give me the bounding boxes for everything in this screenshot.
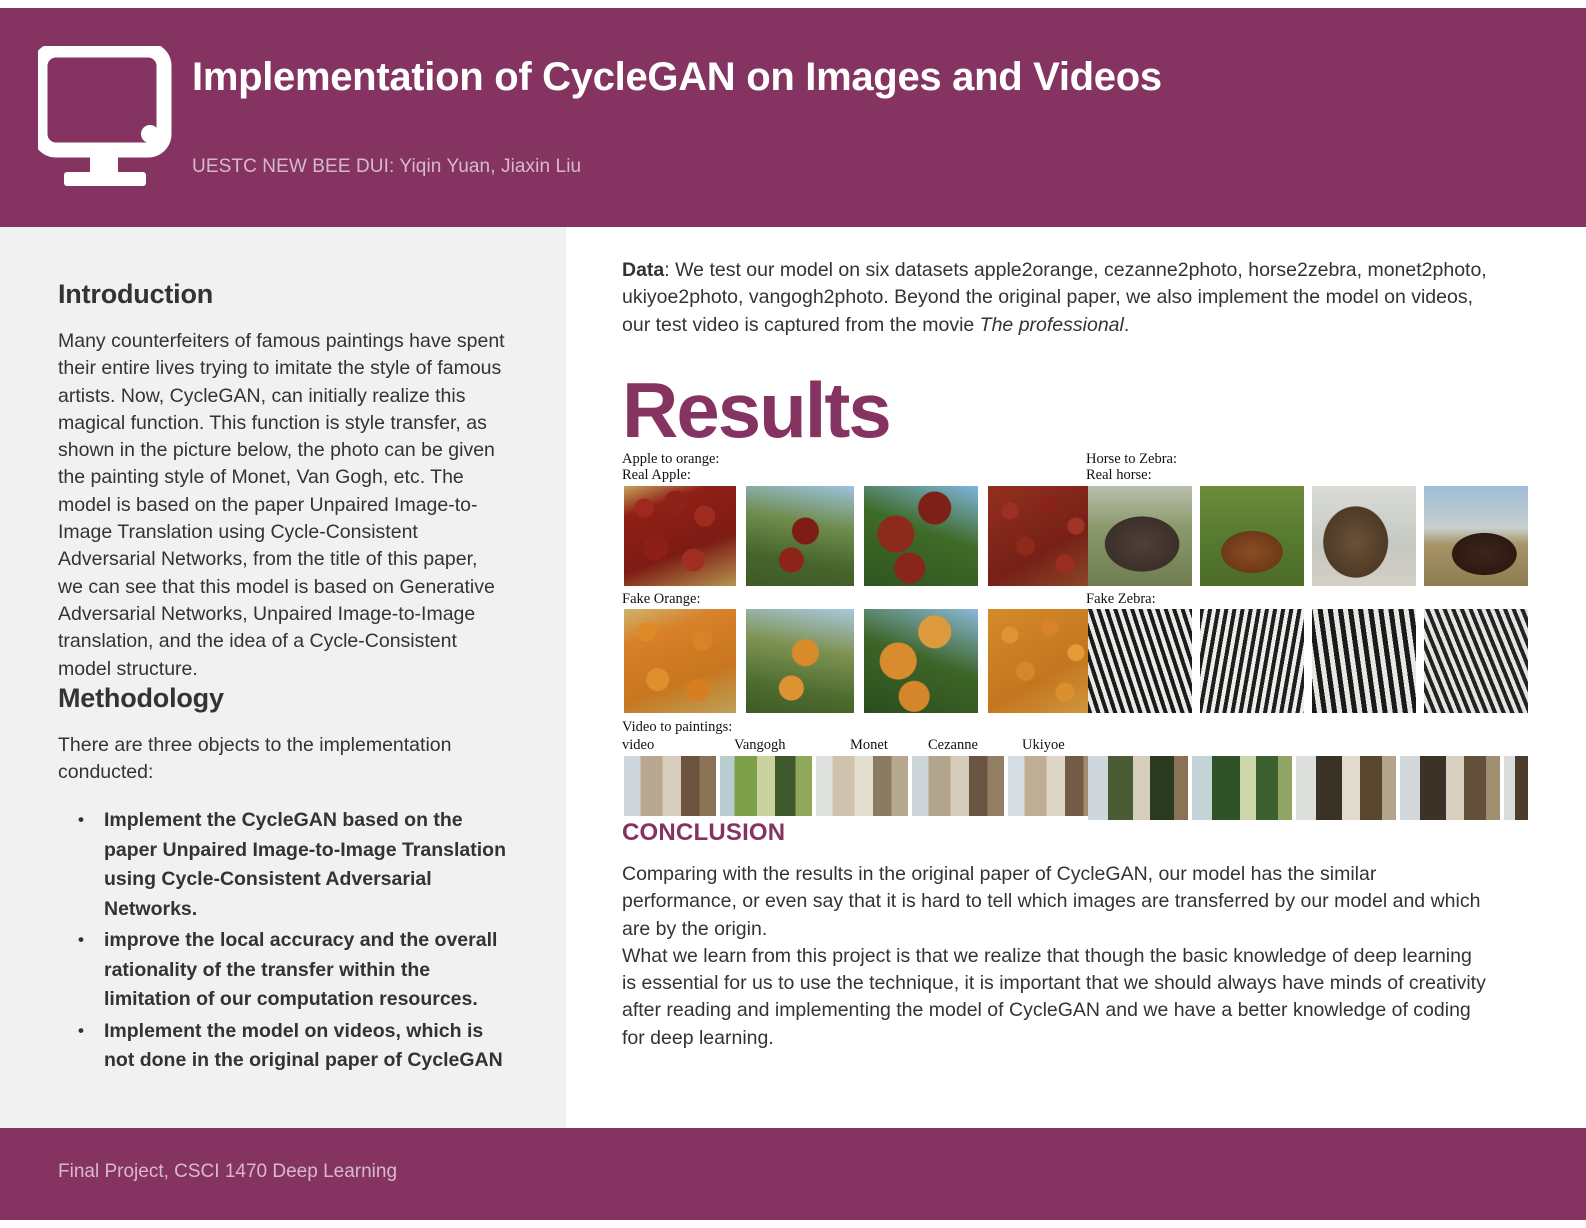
- thumb-fake-zebra-1: [1088, 609, 1192, 713]
- conclusion-paragraph-2: What we learn from this project is that …: [622, 943, 1491, 1052]
- thumb-video-strip-5: [1504, 756, 1528, 820]
- list-item: improve the local accuracy and the overa…: [104, 926, 506, 1015]
- poster-root: Implementation of CycleGAN on Images and…: [0, 0, 1586, 1228]
- thumb-fake-orange-3: [864, 609, 978, 713]
- introduction-text: Many counterfeiters of famous paintings …: [58, 328, 506, 683]
- thumb-video-strip-1: [1088, 756, 1188, 820]
- figure-label-real-horse: Real horse:: [1086, 467, 1152, 483]
- methodology-heading: Methodology: [58, 683, 506, 714]
- figure-label-monet: Monet: [850, 737, 888, 753]
- thumb-video-strip-3: [1296, 756, 1396, 820]
- thumb-fake-zebra-3: [1312, 609, 1416, 713]
- thumb-fake-orange-2: [746, 609, 854, 713]
- results-figure: Apple to orange: Real Apple: Fake Orange…: [622, 451, 1497, 803]
- thumb-real-horse-1: [1088, 486, 1192, 586]
- thumb-fake-orange-1: [624, 609, 736, 713]
- poster-footer: Final Project, CSCI 1470 Deep Learning: [0, 1128, 1586, 1220]
- list-item: Implement the model on videos, which is …: [104, 1017, 506, 1076]
- movie-title: The professional: [980, 314, 1124, 336]
- introduction-heading: Introduction: [58, 279, 506, 310]
- main-column: Data: We test our model on six datasets …: [566, 227, 1586, 1128]
- thumb-real-apple-4: [988, 486, 1098, 586]
- thumb-real-horse-3: [1312, 486, 1416, 586]
- thumb-fake-zebra-2: [1200, 609, 1304, 713]
- poster-body: Introduction Many counterfeiters of famo…: [0, 227, 1586, 1128]
- conclusion-heading: CONCLUSION: [622, 819, 1491, 847]
- figure-label-horse-to-zebra: Horse to Zebra:: [1086, 451, 1177, 467]
- figure-label-cezanne: Cezanne: [928, 737, 978, 753]
- page-title: Implementation of CycleGAN on Images and…: [192, 54, 1556, 100]
- thumb-real-apple-3: [864, 486, 978, 586]
- figure-label-fake-zebra: Fake Zebra:: [1086, 591, 1156, 607]
- thumb-fake-zebra-4: [1424, 609, 1528, 713]
- thumb-fake-orange-4: [988, 609, 1098, 713]
- figure-label-ukiyoe: Ukiyoe: [1022, 737, 1065, 753]
- figure-label-apple-to-orange: Apple to orange:: [622, 451, 719, 467]
- methodology-intro: There are three objects to the implement…: [58, 732, 506, 787]
- poster-authors: UESTC NEW BEE DUI: Yiqin Yuan, Jiaxin Li…: [192, 156, 1556, 178]
- figure-label-video: video: [622, 737, 654, 753]
- figure-label-fake-orange: Fake Orange:: [622, 591, 701, 607]
- figure-label-video-to-paintings: Video to paintings:: [622, 719, 732, 735]
- footer-text: Final Project, CSCI 1470 Deep Learning: [58, 1161, 397, 1183]
- list-item: Implement the CycleGAN based on the pape…: [104, 806, 506, 924]
- thumb-video-vangogh: [720, 756, 812, 816]
- figure-label-real-apple: Real Apple:: [622, 467, 691, 483]
- data-text-b: .: [1124, 314, 1129, 336]
- results-heading: Results: [622, 373, 1491, 447]
- thumb-video-ukiyoe: [1008, 756, 1100, 816]
- data-paragraph: Data: We test our model on six datasets …: [622, 257, 1491, 339]
- methodology-list: Implement the CycleGAN based on the pape…: [58, 806, 506, 1076]
- thumb-real-apple-1: [624, 486, 736, 586]
- figure-label-vangogh: Vangogh: [734, 737, 786, 753]
- thumb-video-strip-4: [1400, 756, 1500, 820]
- thumb-video-cezanne: [912, 756, 1004, 816]
- desktop-monitor-icon: [38, 46, 180, 201]
- sidebar-column: Introduction Many counterfeiters of famo…: [0, 227, 566, 1128]
- poster-header: Implementation of CycleGAN on Images and…: [0, 8, 1586, 227]
- thumb-real-horse-4: [1424, 486, 1528, 586]
- thumb-real-apple-2: [746, 486, 854, 586]
- data-colon: :: [664, 259, 675, 281]
- thumb-video-strip-2: [1192, 756, 1292, 820]
- thumb-video-monet: [816, 756, 908, 816]
- conclusion-paragraph-1: Comparing with the results in the origin…: [622, 861, 1491, 943]
- thumb-real-horse-2: [1200, 486, 1304, 586]
- header-text-block: Implementation of CycleGAN on Images and…: [192, 54, 1556, 178]
- thumb-video-original: [624, 756, 716, 816]
- data-label: Data: [622, 259, 664, 281]
